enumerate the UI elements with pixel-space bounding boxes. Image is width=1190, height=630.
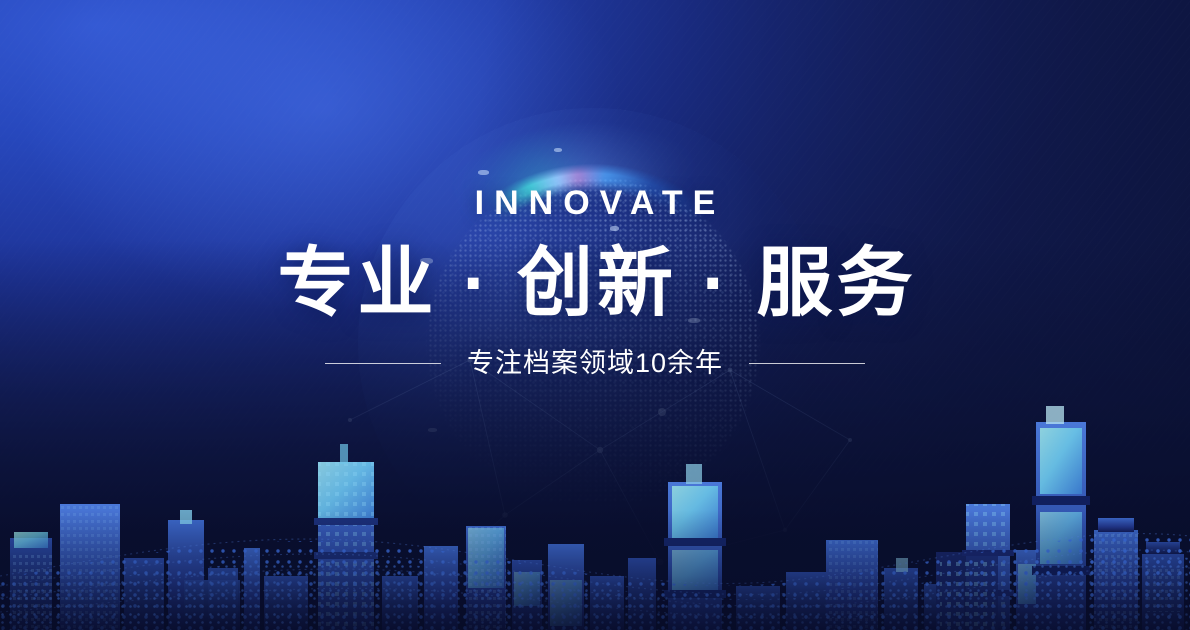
- banner-text-block: INNOVATE 专业 · 创新 · 服务 专注档案领域10余年: [0, 186, 1190, 377]
- dot-wave-terrain: [0, 460, 1190, 630]
- rule-right-icon: [749, 363, 865, 364]
- globe-speck: [478, 170, 489, 175]
- eyebrow-text: INNOVATE: [0, 186, 1190, 220]
- globe-speck: [554, 148, 562, 152]
- rule-left-icon: [325, 363, 441, 364]
- subtitle-row: 专注档案领域10余年: [0, 350, 1190, 377]
- page-title: 专业 · 创新 · 服务: [0, 244, 1190, 324]
- subtitle-text: 专注档案领域10余年: [467, 350, 723, 377]
- hero-banner: INNOVATE 专业 · 创新 · 服务 专注档案领域10余年: [0, 0, 1190, 630]
